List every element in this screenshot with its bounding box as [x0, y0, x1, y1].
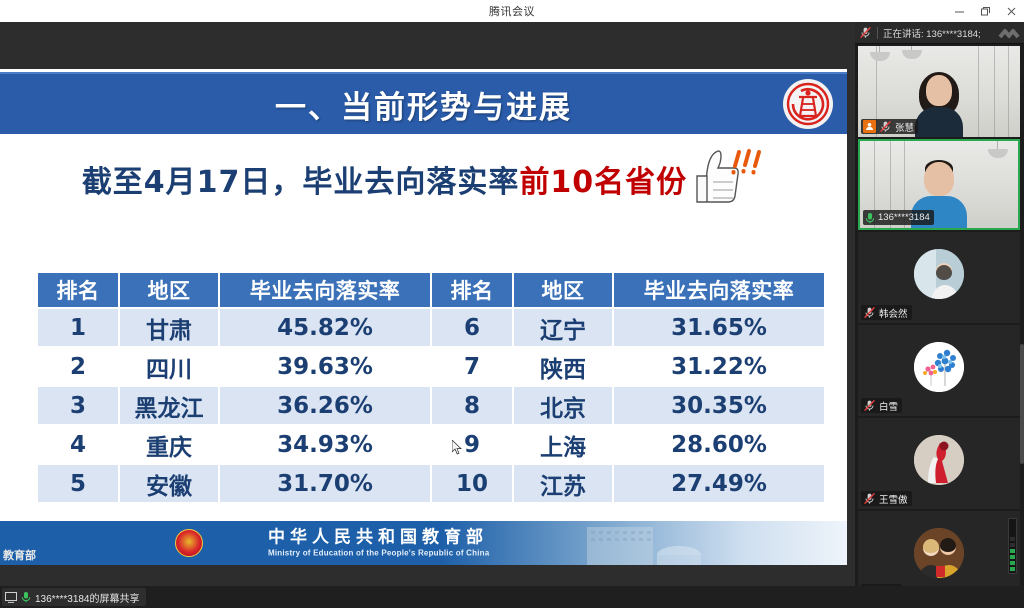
table-cell: 重庆: [120, 426, 218, 463]
host-person-icon: [865, 122, 874, 131]
table-cell: 7: [432, 348, 512, 385]
slide-header: 一、当前形势与进展: [0, 72, 847, 134]
mic-muted-icon: [879, 120, 892, 133]
table-cell: 10: [432, 465, 512, 502]
screen-letterbox-top: [0, 44, 855, 69]
table-row: 5 安徽 31.70% 10 江苏 27.49%: [38, 465, 824, 502]
close-button[interactable]: [998, 0, 1024, 22]
participant-tile[interactable]: 张慧: [858, 46, 1020, 137]
participant-name: 白雪: [879, 399, 898, 413]
window-title: 腾讯会议: [489, 3, 535, 19]
table-header-cell: 地区: [514, 273, 612, 307]
table-cell: 31.22%: [614, 348, 824, 385]
ministry-name-cn: 中华人民共和国教育部: [268, 529, 489, 549]
table-cell: 3: [38, 387, 118, 424]
avatar: [914, 342, 964, 392]
mic-active-icon: [865, 212, 875, 224]
statistics-table-wrapper: 排名 地区 毕业去向落实率 排名 地区 毕业去向落实率 1 甘肃 45.82%: [36, 271, 812, 504]
participant-name-badge: 张慧: [861, 119, 918, 134]
table-cell: 6: [432, 309, 512, 346]
presentation-slide: 一、当前形势与进展 截至4: [0, 69, 847, 565]
scrollbar-thumb[interactable]: [1020, 344, 1024, 464]
table-cell: 8: [432, 387, 512, 424]
divider: [877, 27, 878, 39]
mic-muted-icon: [859, 26, 872, 39]
participant-name: 136****3184: [878, 212, 930, 223]
speaking-label: 正在讲话: 136****3184;: [883, 26, 993, 40]
participant-name-badge: 王雪傲: [861, 491, 912, 506]
table-cell: 江苏: [514, 465, 612, 502]
mic-muted-icon: [863, 492, 876, 505]
ministry-branding: 中华人民共和国教育部 Ministry of Education of the …: [268, 529, 489, 558]
screen-share-label: 136****3184的屏幕共享: [35, 590, 140, 605]
table-header-cell: 排名: [432, 273, 512, 307]
participant-name: 韩会然: [879, 306, 908, 320]
subtitle-main-text: 截至4月17日，毕业去向落实率: [82, 165, 520, 200]
audio-level-meter: [1008, 518, 1017, 574]
avatar-photo: [914, 249, 964, 299]
table-cell: 2: [38, 348, 118, 385]
slide-subtitle: 截至4月17日，毕业去向落实率前10名省份: [82, 157, 687, 201]
meeting-window: 腾讯会议: [0, 0, 1024, 608]
table-cell: 黑龙江: [120, 387, 218, 424]
participant-tile[interactable]: 王雪傲: [858, 418, 1020, 509]
participant-tile[interactable]: 大树: [858, 511, 1020, 586]
meter-segment: [1010, 549, 1015, 553]
meter-segment: [1010, 567, 1015, 571]
participant-tile[interactable]: 白雪: [858, 325, 1020, 416]
participant-tiles[interactable]: 张慧: [855, 44, 1024, 586]
slide-title: 一、当前形势与进展: [275, 82, 572, 127]
taskbar: 136****3184的屏幕共享: [0, 586, 1024, 608]
table-cell: 北京: [514, 387, 612, 424]
avatar: [914, 528, 964, 578]
subtitle-highlight-text: 前10名省份: [519, 165, 687, 200]
window-controls: [946, 0, 1024, 22]
table-cell: 36.26%: [220, 387, 430, 424]
building-graphic: [587, 521, 787, 565]
table-cell: 31.70%: [220, 465, 430, 502]
table-cell: 辽宁: [514, 309, 612, 346]
table-header-cell: 排名: [38, 273, 118, 307]
close-icon: [1006, 6, 1017, 17]
meter-segment: [1010, 561, 1015, 565]
table-cell: 31.65%: [614, 309, 824, 346]
participant-name-badge: 白雪: [861, 398, 902, 413]
screen-share-taskbar-item[interactable]: 136****3184的屏幕共享: [2, 588, 146, 606]
table-row: 3 黑龙江 36.26% 8 北京 30.35%: [38, 387, 824, 424]
avatar-photo: [914, 528, 964, 578]
shared-screen-area[interactable]: 一、当前形势与进展 截至4: [0, 22, 855, 586]
avatar-illustration: [914, 342, 964, 392]
table-header-cell: 地区: [120, 273, 218, 307]
table-cell: 5: [38, 465, 118, 502]
participant-panel: 正在讲话: 136****3184;: [855, 22, 1024, 586]
mic-muted-icon: [863, 399, 876, 412]
minimize-icon: [954, 6, 965, 17]
table-header-cell: 毕业去向落实率: [614, 273, 824, 307]
table-cell: 甘肃: [120, 309, 218, 346]
thumbs-up-icon: [693, 146, 765, 212]
table-cell: 上海: [514, 426, 612, 463]
avatar: [914, 435, 964, 485]
table-row: 1 甘肃 45.82% 6 辽宁 31.65%: [38, 309, 824, 346]
table-cell: 四川: [120, 348, 218, 385]
table-row: 2 四川 39.63% 7 陕西 31.22%: [38, 348, 824, 385]
table-cell: 1: [38, 309, 118, 346]
restore-icon: [980, 6, 991, 17]
avatar: [914, 249, 964, 299]
mic-muted-icon: [863, 306, 876, 319]
meter-segment: [1010, 537, 1015, 541]
meter-segment: [1010, 543, 1015, 547]
participant-name-badge: 韩会然: [861, 305, 912, 320]
institution-logo-icon: [785, 81, 831, 127]
ministry-name-en: Ministry of Education of the People's Re…: [268, 548, 489, 557]
slide-footer-tag: 教育部: [0, 547, 39, 563]
thumbs-up-graphic: [693, 146, 765, 212]
table-cell: 27.49%: [614, 465, 824, 502]
slide-footer: 中华人民共和国教育部 Ministry of Education of the …: [0, 521, 847, 565]
table-cell: 28.60%: [614, 426, 824, 463]
participant-name-badge: 136****3184: [863, 210, 934, 225]
participant-name: 王雪傲: [879, 492, 908, 506]
mic-active-icon: [21, 591, 31, 603]
participant-scrollbar[interactable]: [1020, 44, 1024, 586]
table-cell: 9: [432, 426, 512, 463]
table-cell: 4: [38, 426, 118, 463]
speaking-indicator-bar: 正在讲话: 136****3184;: [855, 22, 1024, 44]
participant-tile[interactable]: 韩会然: [858, 232, 1020, 323]
table-header-cell: 毕业去向落实率: [220, 273, 430, 307]
minimize-button[interactable]: [946, 0, 972, 22]
participant-name: 张慧: [895, 120, 914, 134]
meter-segment: [1010, 555, 1015, 559]
table-cell: 安徽: [120, 465, 218, 502]
table-cell: 45.82%: [220, 309, 430, 346]
national-emblem-icon: [175, 529, 203, 557]
avatar-illustration: [914, 435, 964, 485]
table-header-row: 排名 地区 毕业去向落实率 排名 地区 毕业去向落实率: [38, 273, 824, 307]
table-cell: 34.93%: [220, 426, 430, 463]
institution-logo: [783, 79, 833, 129]
monitor-icon: [5, 592, 17, 603]
statistics-table: 排名 地区 毕业去向落实率 排名 地区 毕业去向落实率 1 甘肃 45.82%: [36, 271, 826, 504]
slide-subtitle-row: 截至4月17日，毕业去向落实率前10名省份: [0, 145, 847, 213]
table-row: 4 重庆 34.93% 9 上海 28.60%: [38, 426, 824, 463]
table-cell: 39.63%: [220, 348, 430, 385]
window-titlebar: 腾讯会议: [0, 0, 1024, 22]
table-cell: 30.35%: [614, 387, 824, 424]
host-icon: [863, 120, 876, 133]
table-cell: 陕西: [514, 348, 612, 385]
restore-button[interactable]: [972, 0, 998, 22]
collapse-chevron-icon[interactable]: [998, 26, 1020, 40]
participant-tile[interactable]: 136****3184: [858, 139, 1020, 230]
